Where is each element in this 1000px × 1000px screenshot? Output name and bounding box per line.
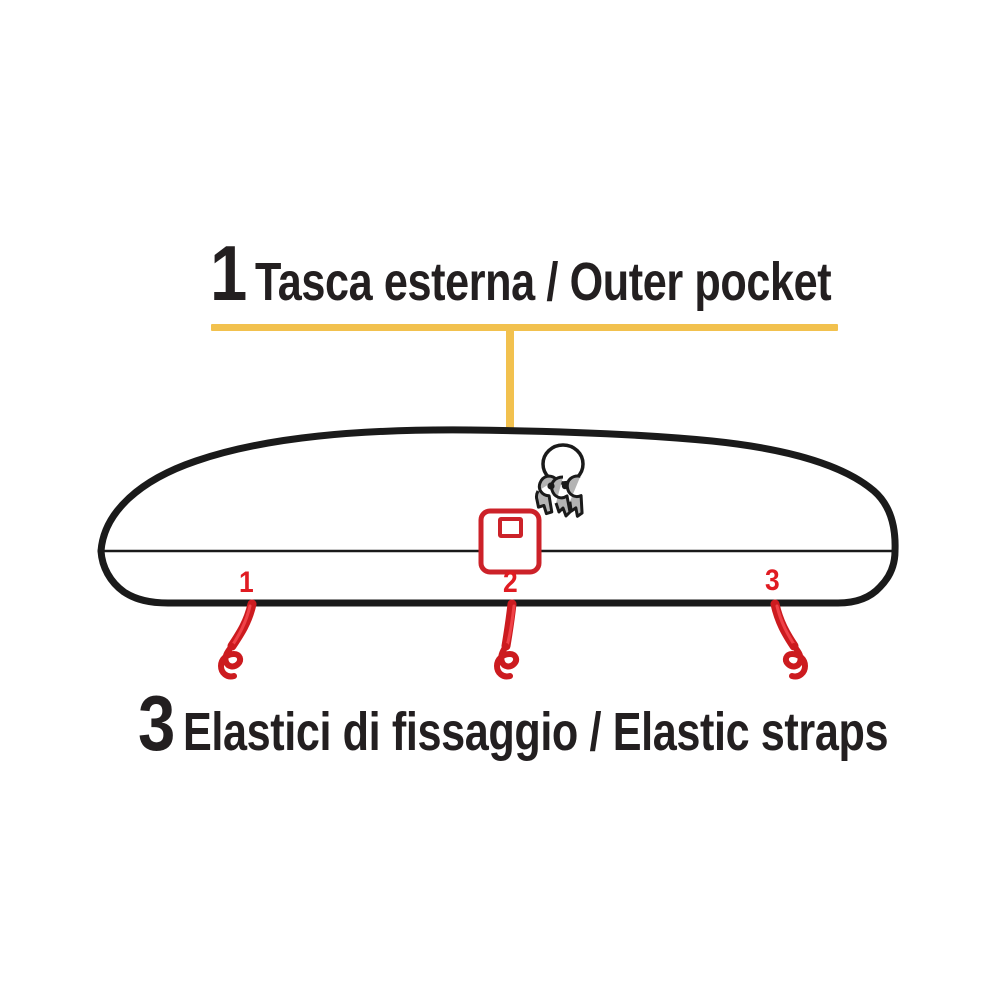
strap-index-3: 3	[765, 564, 779, 598]
callout-elastic-straps: 3 Elastici di fissaggio / Elastic straps	[138, 688, 1000, 759]
elastic-strap-2	[497, 604, 516, 676]
diagram-canvas: 1 Tasca esterna / Outer pocket	[0, 0, 1000, 1000]
strap-index-2: 2	[503, 566, 517, 600]
elastic-strap-3	[775, 604, 805, 676]
strap-hook-3	[786, 646, 805, 676]
strap-hook-2	[497, 646, 516, 676]
strap-hook-1	[221, 646, 240, 676]
callout-elastic-straps-label: Elastici di fissaggio / Elastic straps	[183, 705, 888, 759]
callout-outer-pocket: 1 Tasca esterna / Outer pocket	[210, 238, 976, 309]
lock-housing	[481, 511, 539, 572]
callout-leader-rule	[211, 324, 838, 331]
callout-elastic-straps-number: 3	[138, 688, 174, 758]
key-hole-middle	[562, 483, 568, 489]
key-hole-left	[547, 482, 554, 489]
callout-outer-pocket-label: Tasca esterna / Outer pocket	[255, 255, 831, 309]
callout-outer-pocket-number: 1	[210, 238, 246, 308]
cargo-box-illustration	[0, 0, 1000, 1000]
lock-keyhole	[500, 519, 521, 536]
elastic-strap-1	[221, 604, 252, 676]
strap-index-1: 1	[239, 566, 253, 600]
